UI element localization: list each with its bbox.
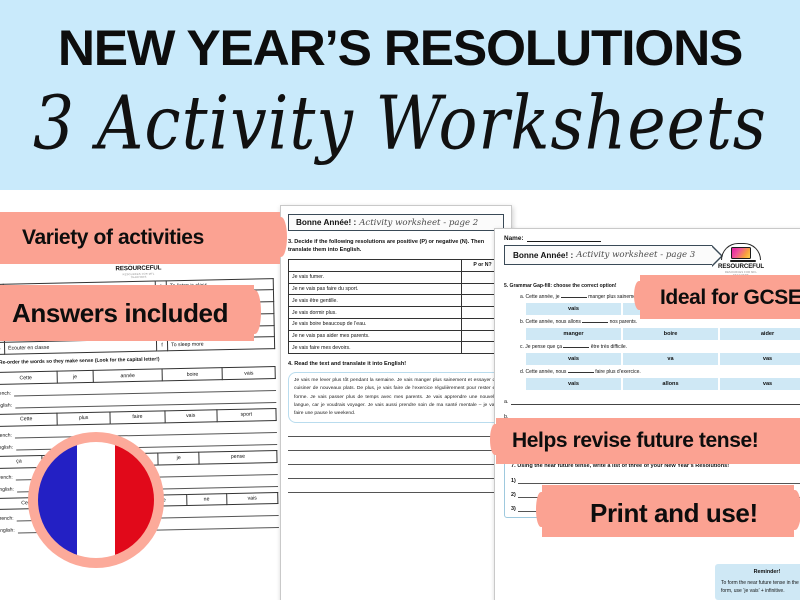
answer-line-rule[interactable]	[288, 428, 504, 437]
answer-line[interactable]: 1)	[511, 477, 800, 484]
answer-line[interactable]: French:	[0, 426, 277, 439]
answer-line-rule[interactable]	[511, 398, 800, 405]
callout-text-answers: Answers included	[12, 298, 228, 329]
word-cell: plus	[57, 412, 110, 425]
table-row[interactable]: Je ne vais pas faire du sport.	[289, 283, 504, 295]
flag-stripe-blue	[38, 442, 77, 558]
gap-blank[interactable]	[582, 322, 608, 323]
page-subtitle: 3 Activity Worksheets	[8, 72, 792, 175]
word-cell: Cette	[0, 413, 57, 426]
answer-line-label: English:	[0, 486, 14, 492]
option-chip[interactable]: vas	[720, 378, 800, 390]
answer-line[interactable]: a.	[504, 398, 800, 405]
answer-line-label: French:	[0, 474, 13, 480]
name-label: Name:	[504, 235, 524, 242]
sentence-cell: Je vais fumer.	[289, 271, 462, 283]
answer-line-rule[interactable]	[15, 426, 277, 438]
brand-logo-page3: RESOURCEFUL RESOURCES FOR MFL TEACHERS	[718, 243, 764, 277]
answer-line-label: a.	[504, 399, 509, 405]
prompt-after: faire plus d’exercice.	[594, 369, 641, 375]
option-chip[interactable]: vais	[526, 353, 621, 365]
option-chip[interactable]: vais	[526, 378, 621, 390]
q4-answer-lines[interactable]	[288, 428, 504, 493]
poster-canvas: NEW YEAR’S RESOLUTIONS 3 Activity Worksh…	[0, 0, 800, 600]
answer-line-rule[interactable]	[288, 442, 504, 451]
answer-line-label: 2)	[511, 492, 516, 498]
gap-fill-prompt: d. Cette année, nous faire plus d’exerci…	[520, 369, 800, 375]
sentence-cell: Je vais être gentille.	[289, 295, 462, 307]
pn-table[interactable]: P or N?Je vais fumer. Je ne vais pas fai…	[288, 259, 504, 354]
option-chip[interactable]: allons	[623, 378, 718, 390]
gap-fill-prompt: b. Cette année, nous allons nos parents.	[520, 319, 800, 325]
row-french: Écouter en classe	[4, 339, 156, 354]
word-reorder-table[interactable]: Cetteplusfairevaissport	[0, 408, 277, 427]
option-chip[interactable]: manger	[526, 328, 621, 340]
word-reorder-table[interactable]: Cettejeannéeboirevais	[0, 366, 276, 385]
prompt-before: c. Je pense que ça	[520, 344, 563, 350]
option-chip[interactable]: vais	[526, 303, 621, 315]
answer-line-rule[interactable]	[288, 456, 504, 465]
answer-line-label: French:	[0, 432, 12, 438]
callout-text-variety: Variety of activities	[22, 226, 204, 250]
gap-blank[interactable]	[561, 297, 587, 298]
sentence-cell: Je vais dormir plus.	[289, 307, 462, 319]
q3-heading: 3. Decide if the following resolutions a…	[288, 238, 504, 254]
word-cell: vais	[227, 492, 278, 505]
answer-line-rule[interactable]	[288, 484, 504, 493]
callout-text-gcse: Ideal for GCSE!	[660, 286, 800, 310]
option-chip[interactable]: vas	[720, 353, 800, 365]
name-input-rule[interactable]	[527, 235, 601, 242]
callout-text-future: Helps revise future tense!	[512, 429, 758, 453]
table-row[interactable]: Je vais faire mes devoirs.	[289, 342, 504, 354]
answer-line-label: 3)	[511, 506, 516, 512]
answer-line-label: 1)	[511, 478, 516, 484]
flag-stripe-white	[77, 442, 116, 558]
table-row[interactable]: Cettejeannéeboirevais	[0, 367, 275, 385]
reminder-title: Reminder!	[721, 569, 800, 575]
word-cell: faire	[110, 411, 165, 424]
word-cell: je	[57, 371, 93, 384]
prompt-after: être très difficile.	[589, 344, 627, 350]
option-chip[interactable]: boire	[623, 328, 718, 340]
gap-fill-options[interactable]: vaisvavas	[526, 353, 800, 365]
table-row[interactable]: Je vais fumer.	[289, 271, 504, 283]
gap-fill-prompt: c. Je pense que ça être très difficile.	[520, 344, 800, 350]
prompt-before: d. Cette année, nous	[520, 369, 568, 375]
sentence-cell: Je ne vais pas aider mes parents.	[289, 330, 462, 342]
prompt-before: b. Cette année, nous allons	[520, 319, 582, 325]
table-row[interactable]: Je vais dormir plus.	[289, 307, 504, 319]
sentence-cell: Je ne vais pas faire du sport.	[289, 283, 462, 295]
answer-line-rule[interactable]	[15, 396, 276, 408]
row-letter: f	[156, 339, 167, 351]
gap-fill-options[interactable]: vaisallonsvas	[526, 378, 800, 390]
logo-wordmark: RESOURCEFUL	[718, 263, 764, 270]
french-flag-icon	[38, 442, 154, 558]
word-cell: vais	[222, 367, 275, 380]
callout-text-print: Print and use!	[590, 498, 758, 529]
option-chip[interactable]: va	[623, 353, 718, 365]
answer-line-label: English:	[0, 403, 12, 409]
word-cell: je	[158, 452, 199, 465]
q4-heading: 4. Read the text and translate it into E…	[288, 360, 504, 368]
word-cell: vais	[165, 410, 217, 423]
answer-line-rule[interactable]	[288, 470, 504, 479]
q2-heading: 2. Re-order the words so they make sense…	[0, 354, 275, 367]
gap-blank[interactable]	[568, 372, 594, 373]
header-band: NEW YEAR’S RESOLUTIONS 3 Activity Worksh…	[0, 0, 800, 190]
name-field[interactable]: Name:	[504, 235, 800, 242]
answer-line-rule[interactable]	[14, 384, 276, 396]
option-chip[interactable]: aider	[720, 328, 800, 340]
sentence-cell: Je vais boire beaucoup de l’eau.	[289, 318, 462, 330]
logo-wordmark: RESOURCEFUL	[115, 264, 161, 272]
answer-line-label: French:	[0, 391, 11, 397]
table-header-row: P or N?	[289, 260, 504, 272]
word-cell: ne	[186, 493, 226, 506]
page3-banner-bold: Bonne Année! :	[513, 251, 573, 260]
sentence-cell: Je vais faire mes devoirs.	[289, 342, 462, 354]
word-cell: pense	[199, 450, 277, 463]
word-cell: boire	[162, 368, 222, 381]
laptop-icon	[730, 247, 752, 262]
table-row[interactable]: Je vais boire beaucoup de l’eau.	[289, 318, 504, 330]
reminder-body: To form the near future tense in the ‘I’…	[721, 579, 800, 595]
laptop-screen-icon	[731, 247, 751, 259]
prompt-after: nos parents.	[608, 319, 637, 325]
reminder-box: Reminder! To form the near future tense …	[715, 564, 800, 600]
flag-stripe-red	[115, 442, 154, 558]
answer-line[interactable]: French:	[0, 384, 276, 397]
gap-blank[interactable]	[563, 347, 589, 348]
answer-line-rule[interactable]	[518, 477, 800, 484]
answer-line[interactable]: English:	[0, 396, 276, 409]
answer-line-label: French:	[0, 516, 14, 522]
page-title: NEW YEAR’S RESOLUTIONS	[0, 21, 800, 75]
page2-title-banner: Bonne Année! : Activity worksheet - page…	[288, 214, 504, 231]
prompt-before: a. Cette année, je	[520, 294, 561, 300]
gap-fill-options[interactable]: mangerboireaider	[526, 328, 800, 340]
page3-banner-script: Activity worksheet - page 3	[576, 250, 695, 260]
answer-line-label: English:	[0, 444, 13, 450]
french-flag-badge	[28, 432, 164, 568]
worksheet-page-2[interactable]: Bonne Année! : Activity worksheet - page…	[280, 205, 512, 600]
table-row[interactable]: Je vais être gentille.	[289, 295, 504, 307]
page2-banner-bold: Bonne Année! :	[296, 218, 356, 227]
laptop-base-icon	[730, 260, 756, 262]
word-cell: année	[93, 369, 163, 382]
logo-tagline: RESOURCES FOR MFL TEACHERS	[116, 272, 162, 279]
table-row[interactable]: Cetteplusfairevaissport	[0, 409, 276, 427]
answer-line-label: English:	[0, 528, 15, 534]
page2-banner-script: Activity worksheet - page 2	[359, 218, 478, 228]
word-cell: Cette	[0, 371, 57, 384]
table-row[interactable]: Je ne vais pas aider mes parents.	[289, 330, 504, 342]
page3-title-banner: Bonne Année! : Activity worksheet - page…	[504, 245, 712, 265]
word-cell: sport	[217, 409, 277, 422]
blank-header	[289, 260, 462, 272]
q4-reading-text: Je vais me lever plus tôt pendant la sem…	[288, 372, 504, 423]
